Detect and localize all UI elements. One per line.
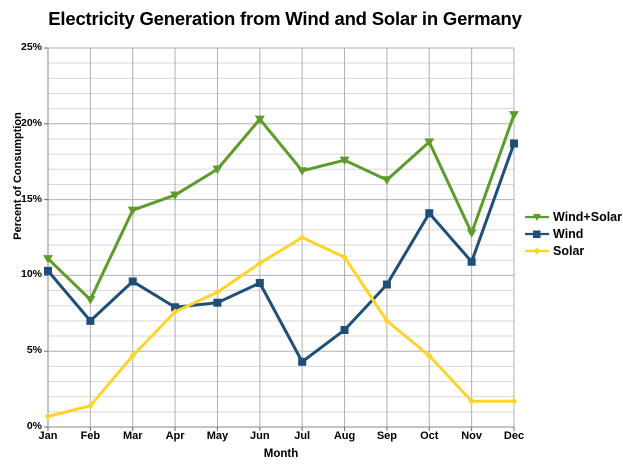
data-point: [256, 279, 264, 287]
legend-item-wind[interactable]: Wind: [524, 225, 623, 242]
data-point: [86, 317, 94, 325]
legend-swatch-wind-icon: [524, 227, 550, 241]
data-point: [425, 209, 433, 217]
legend-item-solar[interactable]: Solar: [524, 242, 623, 259]
y-tick-label: 20%: [0, 117, 42, 129]
x-axis-title: Month: [48, 448, 514, 460]
legend-swatch-wind-solar-icon: [524, 210, 550, 224]
legend-label-solar: Solar: [553, 244, 584, 258]
data-point: [44, 267, 52, 275]
chart-container: Electricity Generation from Wind and Sol…: [0, 0, 623, 467]
y-tick-label: 5%: [0, 344, 42, 356]
data-point: [510, 140, 518, 148]
x-tick-label: Dec: [489, 430, 539, 442]
data-point: [468, 258, 476, 266]
data-point: [383, 281, 391, 289]
data-point: [298, 358, 306, 366]
legend-label-wind: Wind: [553, 227, 583, 241]
y-tick-label: 10%: [0, 268, 42, 280]
legend-swatch-solar-icon: [524, 244, 550, 258]
y-tick-label: 15%: [0, 193, 42, 205]
y-tick-label: 25%: [0, 41, 42, 53]
data-point: [129, 277, 137, 285]
chart-legend: Wind+Solar Wind Solar: [524, 208, 623, 259]
data-point: [213, 299, 221, 307]
legend-item-wind-solar[interactable]: Wind+Solar: [524, 208, 623, 225]
legend-label-wind-solar: Wind+Solar: [553, 210, 622, 224]
data-point: [341, 326, 349, 334]
